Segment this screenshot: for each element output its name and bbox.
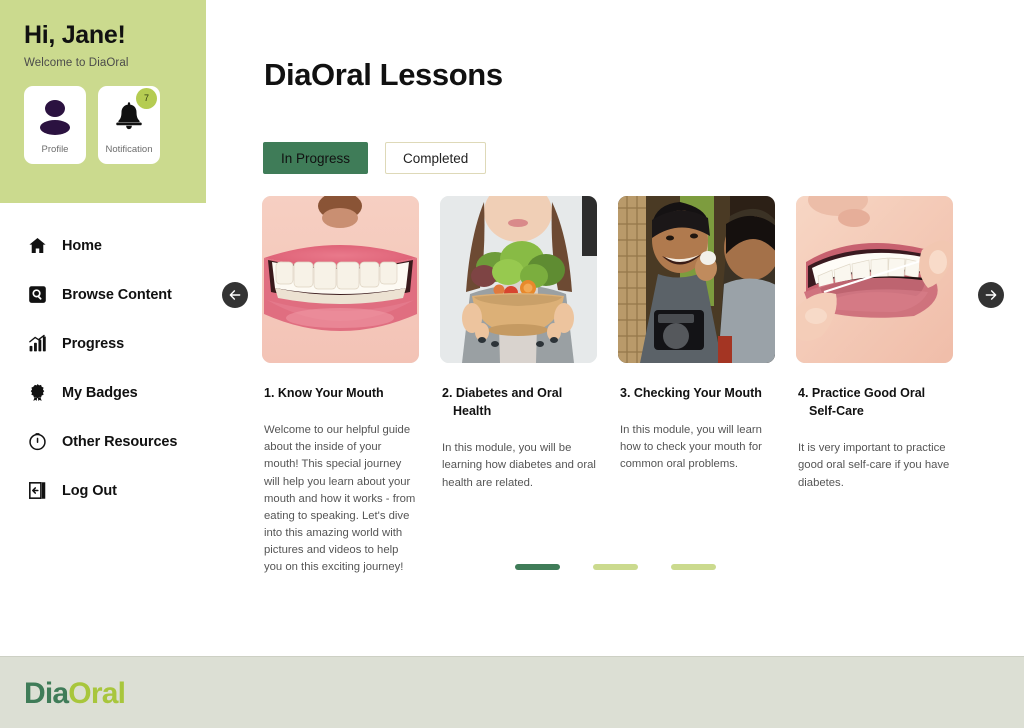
lesson-image-diabetes-and-oral-health[interactable] xyxy=(440,196,597,363)
footer-logo: DiaOral xyxy=(24,677,125,711)
sidebar-item-home[interactable]: Home xyxy=(0,221,206,270)
bar-chart-icon xyxy=(28,334,47,353)
carousel-dot-2[interactable] xyxy=(593,564,638,570)
lesson-tabs: In Progress Completed xyxy=(263,142,486,174)
sidebar-item-home-label: Home xyxy=(62,238,102,254)
lesson-card[interactable]: 1. Know Your Mouth Welcome to our helpfu… xyxy=(262,196,419,577)
sidebar-item-log-out-label: Log Out xyxy=(62,483,117,499)
profile-icon xyxy=(38,100,72,138)
footer-logo-part-oral: Oral xyxy=(68,677,125,710)
sidebar-item-progress[interactable]: Progress xyxy=(0,319,206,368)
footer-logo-part-dia: Dia xyxy=(24,677,68,710)
lesson-card[interactable]: 3. Checking Your Mouth In this module, y… xyxy=(618,196,775,577)
sidebar-item-log-out[interactable]: Log Out xyxy=(0,466,206,515)
page-title: DiaOral Lessons xyxy=(264,57,503,93)
tab-completed[interactable]: Completed xyxy=(385,142,486,174)
welcome-subtitle: Welcome to DiaOral xyxy=(24,57,206,69)
notification-badge: 7 xyxy=(136,88,157,109)
sidebar-item-other-resources[interactable]: Other Resources xyxy=(0,417,206,466)
search-square-icon xyxy=(28,285,47,304)
lesson-card-description: Welcome to our helpful guide about the i… xyxy=(262,422,419,576)
badge-rosette-icon xyxy=(28,383,47,402)
sidebar-item-other-resources-label: Other Resources xyxy=(62,434,177,450)
profile-tile[interactable]: Profile xyxy=(24,86,86,164)
lesson-image-checking-your-mouth[interactable] xyxy=(618,196,775,363)
lesson-card[interactable]: 4. Practice Good Oral Self-Care It is ve… xyxy=(796,196,953,577)
arrow-left-icon xyxy=(228,288,242,302)
lesson-image-know-your-mouth[interactable] xyxy=(262,196,419,363)
home-icon xyxy=(28,236,47,255)
sidebar-item-browse-content-label: Browse Content xyxy=(62,287,172,303)
lesson-card-title: 1. Know Your Mouth xyxy=(273,384,419,402)
lesson-card-description: In this module, you will be learning how… xyxy=(440,440,597,491)
footer: DiaOral Copyright ©DiaOral 2024 xyxy=(0,656,1024,728)
lesson-card-description: It is very important to practice good or… xyxy=(796,440,953,491)
carousel-dot-3[interactable] xyxy=(671,564,716,570)
profile-tile-label: Profile xyxy=(24,144,86,155)
sidebar-item-my-badges-label: My Badges xyxy=(62,385,138,401)
logout-icon xyxy=(28,481,47,500)
notification-tile-label: Notification xyxy=(98,144,160,155)
lesson-card-list: 1. Know Your Mouth Welcome to our helpfu… xyxy=(262,196,953,577)
lesson-card-title: 4. Practice Good Oral Self-Care xyxy=(807,384,953,420)
carousel-prev-button[interactable] xyxy=(222,282,248,308)
tab-in-progress[interactable]: In Progress xyxy=(263,142,368,174)
lesson-card-description: In this module, you will learn how to ch… xyxy=(618,422,775,473)
sidebar-nav: Home Browse Content xyxy=(0,203,206,515)
sidebar: Hi, Jane! Welcome to DiaOral Profile 7 xyxy=(0,0,206,656)
carousel-dot-1[interactable] xyxy=(515,564,560,570)
lesson-card-title: 3. Checking Your Mouth xyxy=(629,384,775,402)
account-tiles: Profile 7 Notification xyxy=(24,86,206,164)
sidebar-item-my-badges[interactable]: My Badges xyxy=(0,368,206,417)
info-clock-icon xyxy=(28,432,47,451)
lessons-carousel: 1. Know Your Mouth Welcome to our helpfu… xyxy=(206,196,1024,596)
greeting-text: Hi, Jane! xyxy=(24,22,206,50)
notification-tile[interactable]: 7 Notification xyxy=(98,86,160,164)
main-content: DiaOral Lessons In Progress Completed xyxy=(206,0,1024,656)
carousel-pagination xyxy=(206,564,1024,570)
carousel-next-button[interactable] xyxy=(978,282,1004,308)
sidebar-item-progress-label: Progress xyxy=(62,336,124,352)
lesson-card[interactable]: 2. Diabetes and Oral Health In this modu… xyxy=(440,196,597,577)
lesson-image-practice-good-oral-self-care[interactable] xyxy=(796,196,953,363)
arrow-right-icon xyxy=(984,288,998,302)
sidebar-header: Hi, Jane! Welcome to DiaOral Profile 7 xyxy=(0,0,206,203)
lesson-card-title: 2. Diabetes and Oral Health xyxy=(451,384,597,420)
sidebar-item-browse-content[interactable]: Browse Content xyxy=(0,270,206,319)
